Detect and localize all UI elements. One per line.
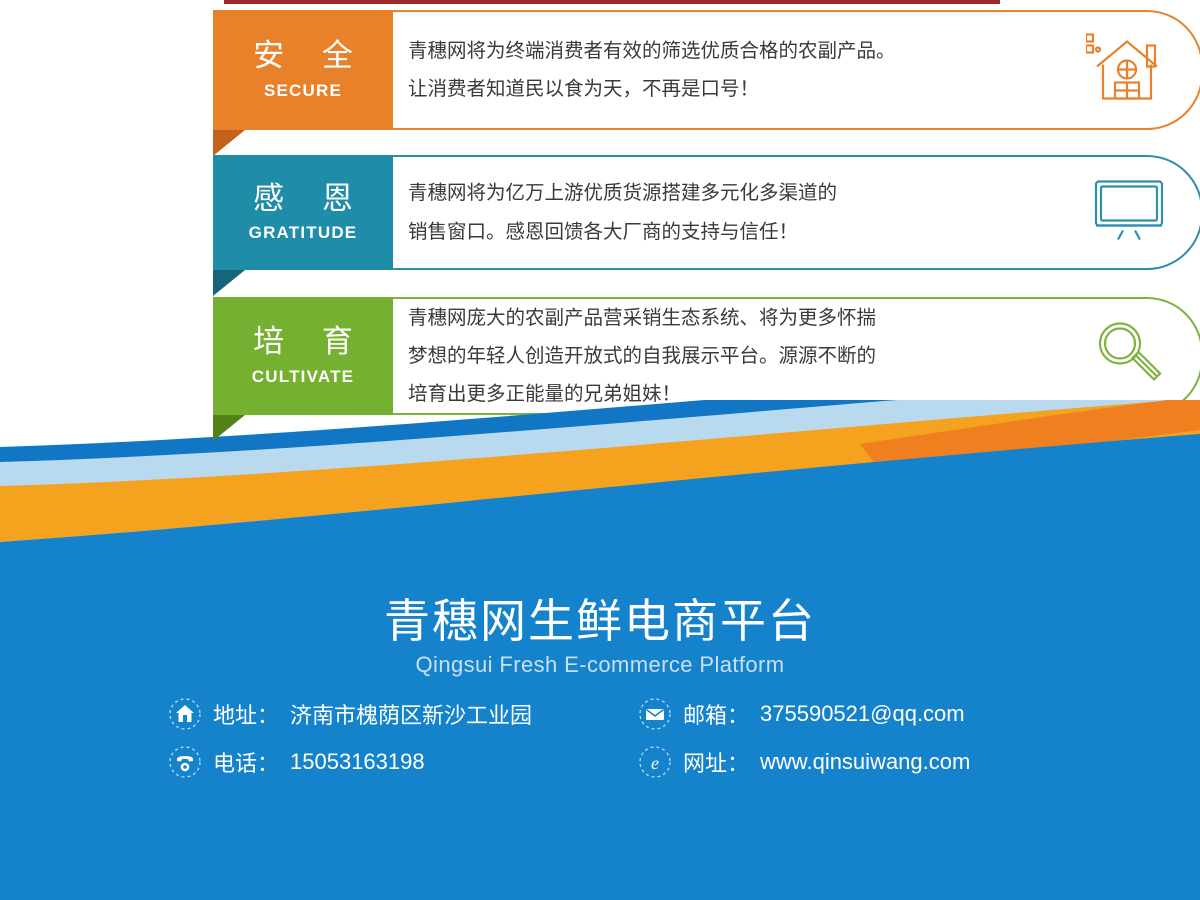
top-red-rule xyxy=(224,0,1000,4)
card-body-text: 青穗网将为亿万上游优质货源搭建多元化多渠道的 销售窗口。感恩回馈各大厂商的支持与… xyxy=(408,155,1083,270)
card-body-text: 青穗网将为终端消费者有效的筛选优质合格的农副产品。 让消费者知道民以食为天，不再… xyxy=(408,10,1083,130)
footer-contacts: 地址： 济南市槐荫区新沙工业园 邮箱： 375590521@qq.com xyxy=(168,692,1068,784)
card-line: 培育出更多正能量的兄弟姐妹！ xyxy=(408,375,1083,413)
globe-icon: e xyxy=(638,745,672,779)
magnifier-icon xyxy=(1092,316,1168,397)
mail-icon xyxy=(638,697,672,731)
contact-label: 地址： xyxy=(213,698,279,730)
card-body-text: 青穗网庞大的农副产品营采销生态系统、将为更多怀揣 梦想的年轻人创造开放式的自我展… xyxy=(408,297,1083,415)
card-tab-cultivate: 培 育 CULTIVATE xyxy=(213,297,393,415)
feature-card-cultivate: 青穗网庞大的农副产品营采销生态系统、将为更多怀揣 梦想的年轻人创造开放式的自我展… xyxy=(213,297,1200,415)
poster-canvas: 青穗网将为终端消费者有效的筛选优质合格的农副产品。 让消费者知道民以食为天，不再… xyxy=(0,0,1200,900)
contact-label: 电话： xyxy=(213,746,279,778)
footer-branding: 青穗网生鲜电商平台 Qingsui Fresh E-commerce Platf… xyxy=(0,595,1200,678)
card-line: 让消费者知道民以食为天，不再是口号！ xyxy=(408,70,1083,108)
contact-email: 邮箱： 375590521@qq.com xyxy=(638,697,1068,731)
card-line: 青穗网将为亿万上游优质货源搭建多元化多渠道的 xyxy=(408,174,1083,212)
card-title-en: GRATITUDE xyxy=(249,223,358,243)
card-tab-secure: 安 全 SECURE xyxy=(213,10,393,130)
contact-address: 地址： 济南市槐荫区新沙工业园 xyxy=(168,697,638,731)
contact-phone: 电话： 15053163198 xyxy=(168,745,638,779)
phone-icon xyxy=(168,745,202,779)
feature-card-secure: 青穗网将为终端消费者有效的筛选优质合格的农副产品。 让消费者知道民以食为天，不再… xyxy=(213,10,1200,130)
contact-label: 网址： xyxy=(683,746,749,778)
contact-value: 济南市槐荫区新沙工业园 xyxy=(290,698,532,730)
card-title-en: CULTIVATE xyxy=(252,367,354,387)
card-fold xyxy=(213,130,245,156)
home-icon xyxy=(168,697,202,731)
monitor-icon xyxy=(1090,177,1168,248)
contact-label: 邮箱： xyxy=(683,698,749,730)
card-line: 青穗网将为终端消费者有效的筛选优质合格的农副产品。 xyxy=(408,32,1083,70)
footer-subtitle: Qingsui Fresh E-commerce Platform xyxy=(0,652,1200,678)
card-fold xyxy=(213,270,245,296)
contact-website: e 网址： www.qinsuiwang.com xyxy=(638,745,1068,779)
card-line: 青穗网庞大的农副产品营采销生态系统、将为更多怀揣 xyxy=(408,299,1083,337)
feature-card-gratitude: 青穗网将为亿万上游优质货源搭建多元化多渠道的 销售窗口。感恩回馈各大厂商的支持与… xyxy=(213,155,1200,270)
card-title-cn: 培 育 xyxy=(239,325,367,361)
card-line: 梦想的年轻人创造开放式的自我展示平台。源源不断的 xyxy=(408,337,1083,375)
house-icon xyxy=(1086,29,1168,112)
contact-value: 15053163198 xyxy=(290,749,425,775)
card-title-cn: 感 恩 xyxy=(239,182,367,218)
card-tab-gratitude: 感 恩 GRATITUDE xyxy=(213,155,393,270)
card-line: 销售窗口。感恩回馈各大厂商的支持与信任！ xyxy=(408,213,1083,251)
card-title-cn: 安 全 xyxy=(239,39,367,75)
contact-value: www.qinsuiwang.com xyxy=(760,749,970,775)
footer-title: 青穗网生鲜电商平台 xyxy=(0,595,1200,648)
card-title-en: SECURE xyxy=(264,81,342,101)
contact-value: 375590521@qq.com xyxy=(760,701,965,727)
svg-text:e: e xyxy=(651,753,659,773)
